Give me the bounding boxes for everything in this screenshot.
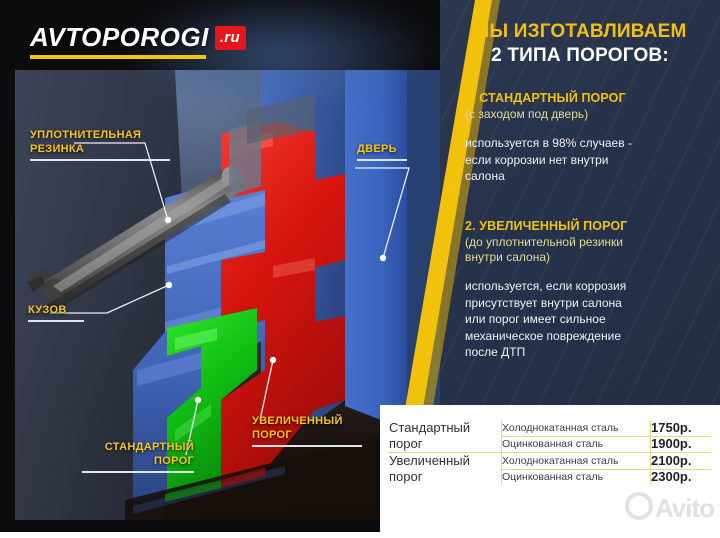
label-underline bbox=[28, 320, 84, 322]
table-row: Увеличенныйпорог Холоднокатанная сталь 2… bbox=[389, 453, 712, 470]
label-door-text: ДВЕРЬ bbox=[357, 142, 407, 156]
label-enlarged-line1: УВЕЛИЧЕННЫЙ bbox=[252, 414, 362, 428]
diagram-panel: УПЛОТНИТЕЛЬНАЯ РЕЗИНКА КУЗОВ ДВЕРЬ СТАНД… bbox=[0, 0, 440, 538]
label-body: КУЗОВ bbox=[28, 303, 84, 322]
label-body-text: КУЗОВ bbox=[28, 303, 84, 317]
label-seal-line1: УПЛОТНИТЕЛЬНАЯ bbox=[30, 128, 170, 142]
label-underline bbox=[82, 471, 194, 473]
label-underline bbox=[30, 159, 170, 161]
price-table: Стандартныйпорог Холоднокатанная сталь 1… bbox=[388, 419, 712, 486]
block-subtitle: (до уплотнительной резинкивнутри салона) bbox=[465, 235, 705, 265]
block-title: 1. СТАНДАРТНЫЙ ПОРОГ bbox=[465, 90, 705, 106]
block-body: используется, если коррозияприсутствует … bbox=[465, 278, 705, 361]
table-row: Стандартныйпорог Холоднокатанная сталь 1… bbox=[389, 420, 712, 437]
frame-left-bar bbox=[0, 0, 15, 538]
price-table-area: Стандартныйпорог Холоднокатанная сталь 1… bbox=[380, 405, 720, 538]
row-type-enlarged: Увеличенныйпорог bbox=[389, 453, 502, 486]
block-body: используется в 98% случаев -если коррози… bbox=[465, 135, 705, 185]
label-door: ДВЕРЬ bbox=[357, 142, 407, 161]
material-cell: Холоднокатанная сталь bbox=[502, 453, 651, 470]
price-cell: 2300р. bbox=[651, 469, 712, 486]
label-enlarged-sill: УВЕЛИЧЕННЫЙ ПОРОГ bbox=[252, 414, 362, 447]
label-standard-sill: СТАНДАРТНЫЙ ПОРОГ bbox=[82, 440, 194, 473]
sill-type-block-enlarged: 2. УВЕЛИЧЕННЫЙ ПОРОГ (до уплотнительной … bbox=[465, 218, 705, 361]
label-seal: УПЛОТНИТЕЛЬНАЯ РЕЗИНКА bbox=[30, 128, 170, 161]
logo-underline-bar bbox=[30, 55, 206, 59]
price-cell: 2100р. bbox=[651, 453, 712, 470]
material-cell: Оцинкованная сталь bbox=[502, 436, 651, 453]
label-standard-line1: СТАНДАРТНЫЙ bbox=[82, 440, 194, 454]
label-standard-line2: ПОРОГ bbox=[82, 454, 194, 468]
logo-tld-badge: .ru bbox=[215, 26, 246, 50]
block-title: 2. УВЕЛИЧЕННЫЙ ПОРОГ bbox=[465, 218, 705, 234]
heading-line-2: 2 ТИПА ПОРОГОВ: bbox=[440, 44, 720, 68]
logo-row: AVTOPOROGI .ru bbox=[30, 22, 246, 53]
price-cell: 1750р. bbox=[651, 420, 712, 437]
label-seal-line2: РЕЗИНКА bbox=[30, 142, 170, 156]
material-cell: Оцинкованная сталь bbox=[502, 469, 651, 486]
panel-heading: МЫ ИЗГОТАВЛИВАЕМ 2 ТИПА ПОРОГОВ: bbox=[440, 20, 720, 68]
block-subtitle: (с заходом под дверь) bbox=[465, 107, 705, 122]
heading-line-1: МЫ ИЗГОТАВЛИВАЕМ bbox=[440, 20, 720, 44]
logo-wordmark: AVTOPOROGI bbox=[30, 22, 209, 53]
advertisement-image: УПЛОТНИТЕЛЬНАЯ РЕЗИНКА КУЗОВ ДВЕРЬ СТАНД… bbox=[0, 0, 720, 538]
material-cell: Холоднокатанная сталь bbox=[502, 420, 651, 437]
site-logo: AVTOPOROGI .ru bbox=[30, 22, 246, 59]
price-cell: 1900р. bbox=[651, 436, 712, 453]
bottom-white-strip bbox=[0, 532, 720, 538]
label-enlarged-line2: ПОРОГ bbox=[252, 428, 362, 442]
label-underline bbox=[357, 159, 407, 161]
sill-type-block-standard: 1. СТАНДАРТНЫЙ ПОРОГ (с заходом под двер… bbox=[465, 90, 705, 185]
row-type-standard: Стандартныйпорог bbox=[389, 420, 502, 453]
label-underline bbox=[252, 445, 362, 447]
